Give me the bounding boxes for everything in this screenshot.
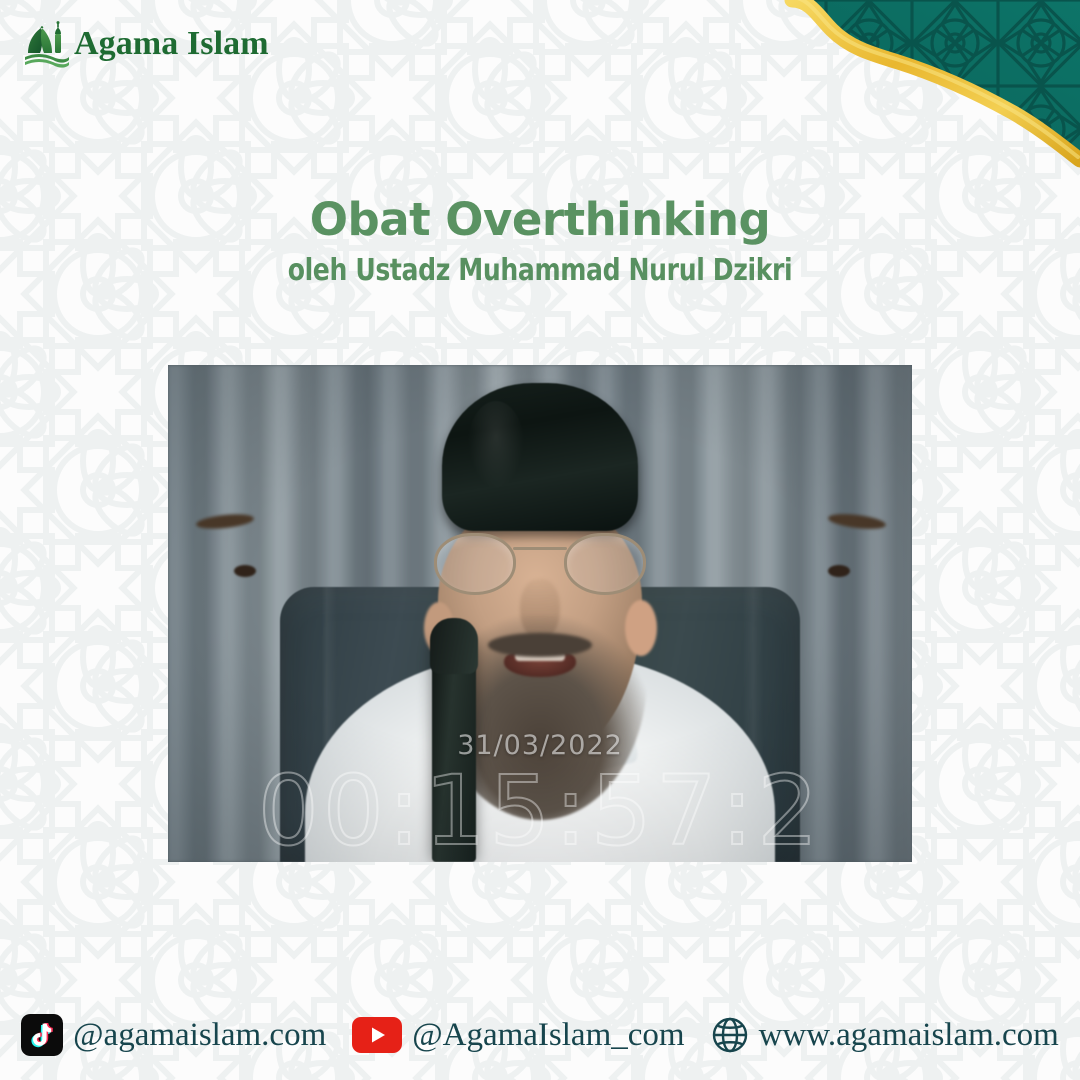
- footer-item-tiktok[interactable]: @agamaislam.com: [21, 1014, 326, 1056]
- mosque-dome-minaret-icon: [22, 19, 72, 69]
- globe-icon[interactable]: [711, 1016, 749, 1054]
- tiktok-handle: @agamaislam.com: [73, 1019, 326, 1052]
- footer-item-website[interactable]: www.agamaislam.com: [711, 1016, 1059, 1054]
- youtube-handle: @AgamaIslam_com: [412, 1019, 684, 1052]
- speaker-photo: 31/03/2022 00:15:57:2: [168, 365, 912, 862]
- brand-logo-text: Agama Islam: [74, 27, 269, 61]
- brand-logo[interactable]: Agama Islam: [22, 18, 269, 70]
- website-url: www.agamaislam.com: [759, 1019, 1059, 1052]
- islamic-geometric-corner-ornament: [740, 0, 1080, 190]
- tiktok-icon[interactable]: [21, 1014, 63, 1056]
- youtube-icon[interactable]: [352, 1017, 402, 1053]
- page-title: Obat Overthinking: [0, 196, 1080, 245]
- footer-social-bar: @agamaislam.com @AgamaIslam_com www.a: [0, 1008, 1080, 1062]
- photo-vignette: [168, 365, 912, 862]
- poster-canvas: Agama Islam Obat Overthinking oleh Ustad…: [0, 0, 1080, 1080]
- title-block: Obat Overthinking oleh Ustadz Muhammad N…: [0, 196, 1080, 288]
- footer-item-youtube[interactable]: @AgamaIslam_com: [352, 1017, 684, 1053]
- page-subtitle: oleh Ustadz Muhammad Nurul Dzikri: [38, 254, 1042, 289]
